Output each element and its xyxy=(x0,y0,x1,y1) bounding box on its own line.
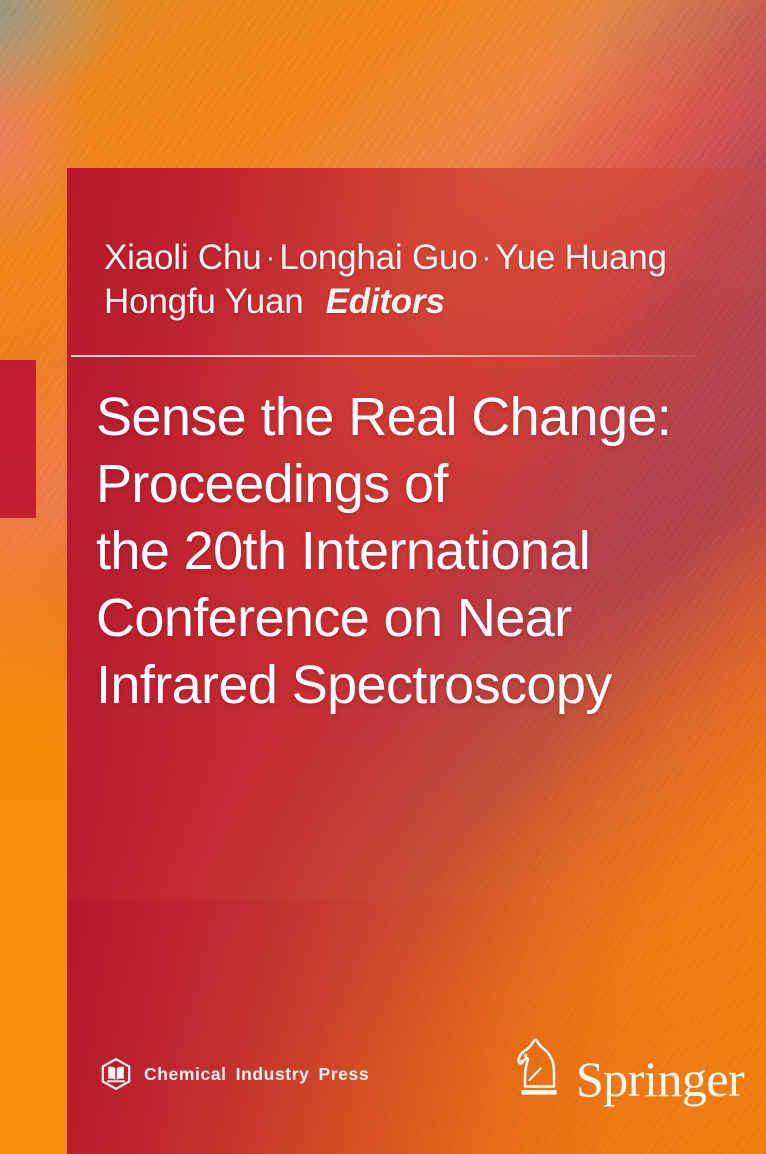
book-title: Sense the Real Change: Proceedings of th… xyxy=(96,384,716,719)
editor-name-3: Yue Huang xyxy=(495,238,666,277)
editor-name-2: Longhai Guo xyxy=(279,238,477,277)
springer-logo: Springer xyxy=(514,1038,744,1100)
title-line-5: Infrared Spectroscopy xyxy=(96,652,716,719)
springer-wordmark: Springer xyxy=(576,1054,744,1104)
book-cover: Xiaoli Chu·Longhai Guo·Yue Huang Hongfu … xyxy=(0,0,766,1154)
title-line-2: Proceedings of xyxy=(96,451,716,518)
title-line-3: the 20th International xyxy=(96,518,716,585)
editor-separator-1: · xyxy=(262,241,280,274)
chemical-industry-press-wordmark: ChemicalIndustryPress xyxy=(144,1064,378,1085)
editors-block: Xiaoli Chu·Longhai Guo·Yue Huang Hongfu … xyxy=(104,236,704,324)
editors-line-1: Xiaoli Chu·Longhai Guo·Yue Huang xyxy=(104,236,704,280)
editor-name-1: Xiaoli Chu xyxy=(104,238,262,277)
editor-name-4: Hongfu Yuan xyxy=(104,282,304,321)
cip-word-3: Press xyxy=(318,1064,378,1084)
editors-role-label: Editors xyxy=(304,282,445,321)
springer-knight-icon xyxy=(514,1038,564,1100)
hexagon-book-icon xyxy=(99,1057,133,1091)
title-line-4: Conference on Near xyxy=(96,585,716,652)
title-panel-lower-wash xyxy=(67,900,766,1154)
chemical-industry-press-logo: ChemicalIndustryPress xyxy=(99,1057,378,1091)
editor-separator-2: · xyxy=(478,241,496,274)
cip-word-1: Chemical xyxy=(144,1064,236,1084)
left-orange-strip xyxy=(0,0,67,1154)
title-line-1: Sense the Real Change: xyxy=(96,384,716,451)
divider-rule xyxy=(71,355,696,357)
editors-line-2: Hongfu YuanEditors xyxy=(104,280,704,324)
cip-word-2: Industry xyxy=(236,1064,319,1084)
